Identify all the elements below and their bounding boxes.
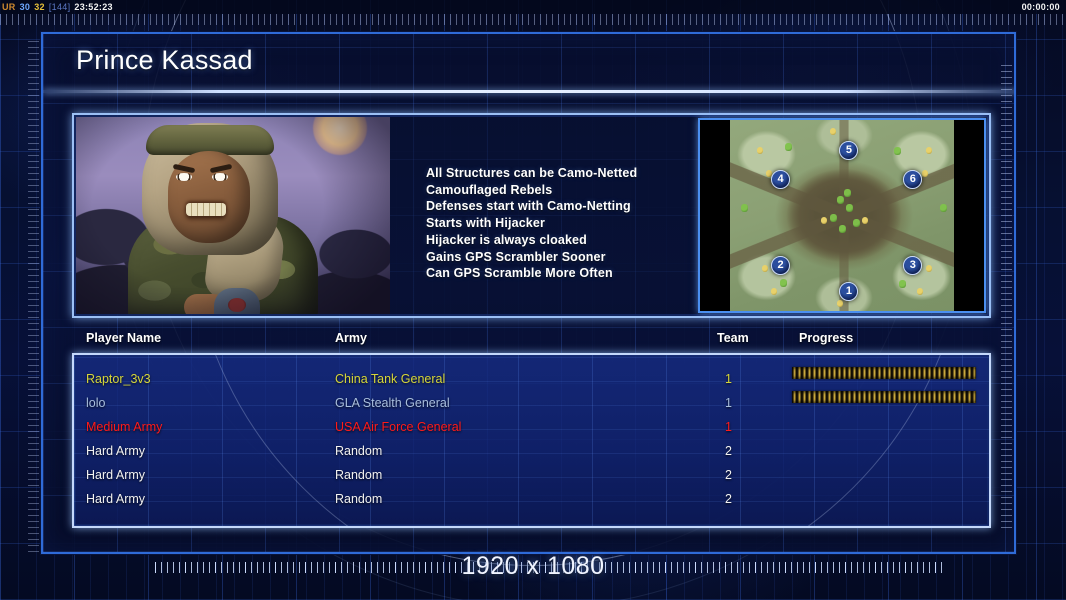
progress-bar: [792, 391, 976, 403]
player-table-header: Player Name Army Team Progress: [72, 331, 991, 353]
map-letterbox-left: [700, 120, 730, 311]
game-screen: UR3032[144]23:52:23 00:00:00 Prince Kass…: [0, 0, 1066, 600]
ability-item: Camouflaged Rebels: [426, 182, 736, 199]
table-row[interactable]: Medium Army USA Air Force General 1: [74, 415, 989, 439]
hud-clock: 23:52:23: [72, 2, 114, 12]
cell-player-name: Raptor_3v3: [86, 367, 151, 391]
loading-window: Prince Kassad: [41, 32, 1016, 554]
ability-item: All Structures can be Camo-Netted: [426, 165, 736, 182]
hud-status-bar: UR3032[144]23:52:23 00:00:00: [0, 0, 1066, 14]
title-divider: [43, 90, 1016, 93]
cell-army: USA Air Force General: [335, 415, 461, 439]
map-start-position-6[interactable]: 6: [903, 170, 922, 189]
ability-item: Gains GPS Scrambler Sooner: [426, 249, 736, 266]
table-row[interactable]: lolo GLA Stealth General 1: [74, 391, 989, 415]
faction-abilities-list: All Structures can be Camo-Netted Camouf…: [426, 165, 736, 282]
column-header-team: Team: [717, 331, 749, 345]
cell-army: Random: [335, 487, 382, 511]
cell-army: GLA Stealth General: [335, 391, 450, 415]
cell-team: 2: [725, 439, 732, 463]
resolution-label: 1920 x 1080: [0, 552, 1066, 581]
map-start-position-3[interactable]: 3: [903, 256, 922, 275]
cell-army: China Tank General: [335, 367, 445, 391]
table-row[interactable]: Hard Army Random 2: [74, 487, 989, 511]
cell-team: 1: [725, 415, 732, 439]
cell-player-name: Hard Army: [86, 487, 145, 511]
left-ruler: [28, 36, 39, 552]
hud-left-label: UR: [0, 2, 18, 12]
cell-player-name: Medium Army: [86, 415, 162, 439]
player-table: Raptor_3v3 China Tank General 1 lolo GLA…: [72, 353, 991, 528]
table-row[interactable]: Hard Army Random 2: [74, 439, 989, 463]
column-header-player-name: Player Name: [86, 331, 161, 345]
map-terrain: 1 2 3 4 5 6: [730, 120, 958, 311]
ability-item: Can GPS Scramble More Often: [426, 265, 736, 282]
top-ruler: [0, 14, 1066, 25]
table-row[interactable]: Hard Army Random 2: [74, 463, 989, 487]
hud-stat-b: 32: [32, 2, 47, 12]
general-portrait: [76, 117, 390, 314]
portrait-vignette: [76, 117, 390, 314]
page-title: Prince Kassad: [76, 45, 253, 76]
window-titlebar: Prince Kassad: [43, 34, 1016, 90]
map-preview: 1 2 3 4 5 6: [698, 118, 986, 313]
map-start-position-4[interactable]: 4: [771, 170, 790, 189]
ability-item: Defenses start with Camo-Netting: [426, 198, 736, 215]
column-header-army: Army: [335, 331, 367, 345]
hud-timer: 00:00:00: [1022, 0, 1060, 14]
ability-item: Starts with Hijacker: [426, 215, 736, 232]
cell-team: 2: [725, 463, 732, 487]
hud-stat-c: [144]: [47, 2, 73, 12]
hud-stat-a: 30: [18, 2, 33, 12]
faction-info-panel: All Structures can be Camo-Netted Camouf…: [72, 113, 991, 318]
map-letterbox-right: [954, 120, 984, 311]
cell-army: Random: [335, 463, 382, 487]
ability-item: Hijacker is always cloaked: [426, 232, 736, 249]
cell-player-name: Hard Army: [86, 439, 145, 463]
cell-team: 2: [725, 487, 732, 511]
cell-team: 1: [725, 391, 732, 415]
cell-player-name: Hard Army: [86, 463, 145, 487]
column-header-progress: Progress: [799, 331, 853, 345]
table-row[interactable]: Raptor_3v3 China Tank General 1: [74, 367, 989, 391]
cell-player-name: lolo: [86, 391, 105, 415]
map-start-position-2[interactable]: 2: [771, 256, 790, 275]
cell-team: 1: [725, 367, 732, 391]
cell-army: Random: [335, 439, 382, 463]
progress-bar: [792, 367, 976, 379]
